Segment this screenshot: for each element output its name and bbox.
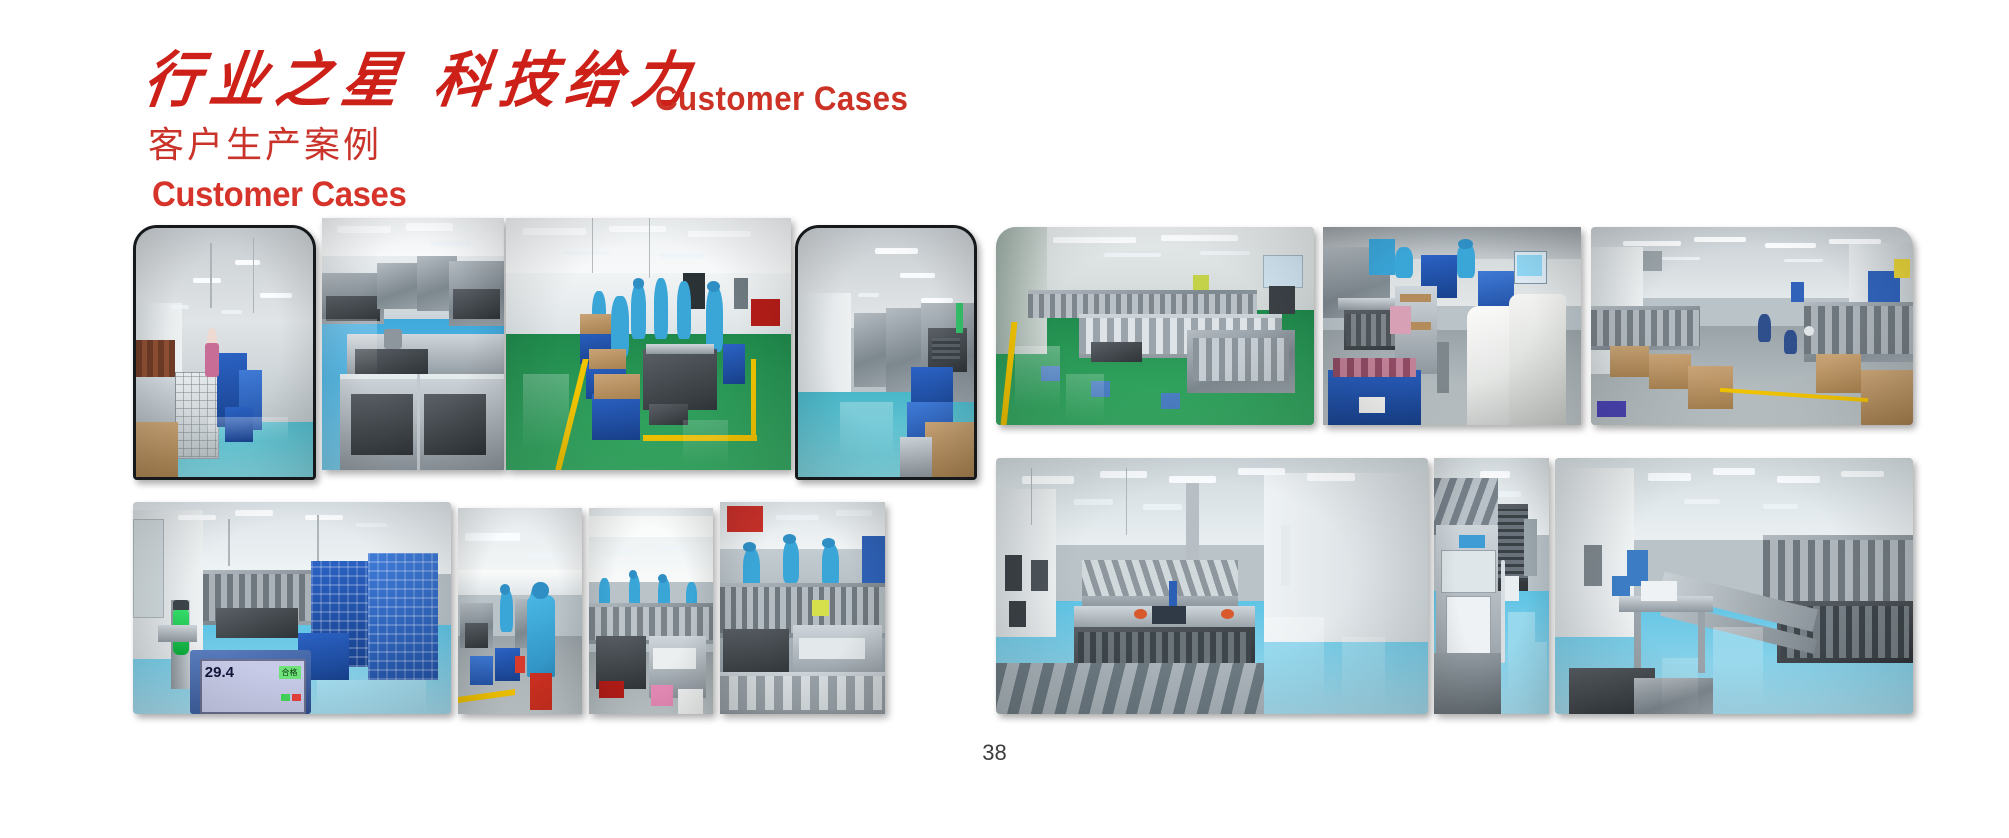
photo-r2c1[interactable]: 29.4 合格	[133, 502, 451, 714]
calligraphy-title: 行业之星科技给力	[140, 52, 702, 112]
photo-r2c2[interactable]	[458, 508, 582, 714]
photo-r2c3[interactable]	[589, 508, 713, 714]
photo-r2c4[interactable]	[720, 502, 885, 714]
photo-r1c2[interactable]	[322, 218, 504, 470]
photo-r1c7[interactable]	[1591, 227, 1913, 425]
calligraphy-phrase-1: 行业之星	[140, 48, 413, 115]
photo-r2c5[interactable]	[996, 458, 1428, 714]
slide-canvas: 行业之星科技给力 Customer Cases 客户生产案例 Customer …	[0, 0, 2009, 838]
photo-r1c5[interactable]	[996, 227, 1314, 425]
photo-r2c7[interactable]	[1555, 458, 1913, 714]
photo-r1c1[interactable]	[133, 225, 316, 480]
subtitle-chinese: 客户生产案例	[148, 127, 382, 163]
page-number: 38	[0, 740, 2009, 766]
subtitle-english: Customer Cases	[152, 177, 406, 212]
photo-r1c6[interactable]	[1323, 227, 1581, 425]
page-number-value: 38	[982, 740, 1006, 765]
headline-english: Customer Cases	[655, 80, 908, 119]
photo-r2c6[interactable]	[1434, 458, 1549, 714]
photo-r1c3[interactable]	[506, 218, 791, 470]
photo-r1c4[interactable]	[795, 225, 977, 480]
